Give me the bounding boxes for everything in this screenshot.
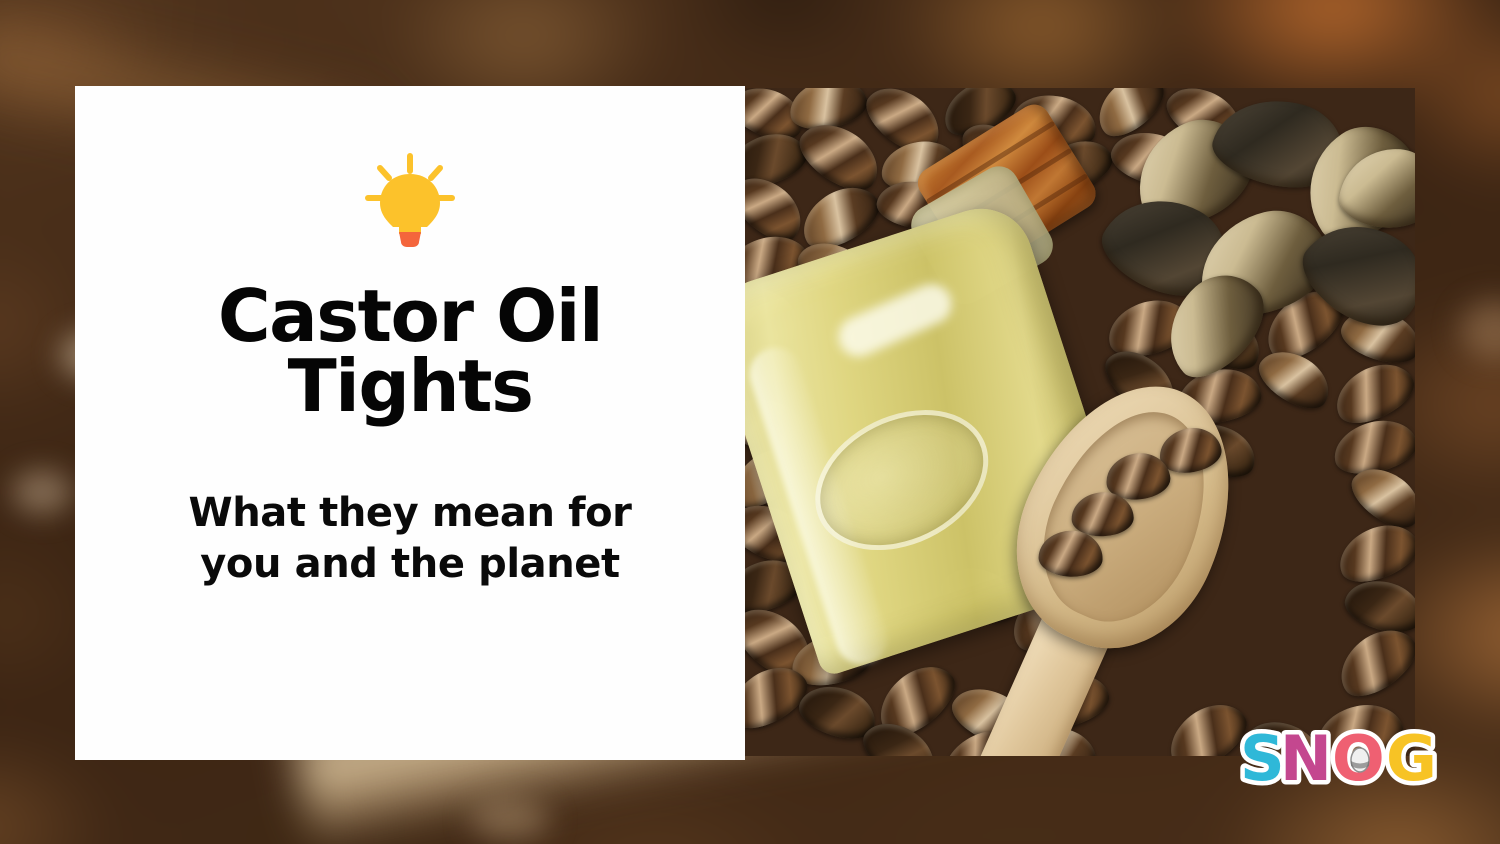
background-speck (470, 800, 550, 840)
text-card: Castor Oil Tights What they mean for you… (75, 86, 745, 760)
logo-letter-n: N (1280, 722, 1332, 794)
subtitle-line-2: you and the planet (200, 541, 620, 587)
page-subtitle: What they mean for you and the planet (130, 488, 690, 590)
background-speck (12, 470, 72, 514)
castor-seed (1340, 572, 1415, 640)
subtitle-line-1: What they mean for (189, 490, 632, 536)
bottle-highlight (832, 278, 958, 363)
logo-letter-g: G (1386, 722, 1437, 794)
poster-canvas: Castor Oil Tights What they mean for you… (0, 0, 1500, 844)
snog-logo[interactable]: S N O G (1238, 722, 1444, 794)
logo-letter-s: S (1240, 722, 1285, 794)
page-title: Castor Oil Tights (110, 282, 710, 422)
castor-oil-photo (745, 88, 1415, 756)
title-line-2: Tights (288, 344, 533, 428)
castor-seed-bed (745, 88, 1415, 756)
lightbulb-icon (358, 148, 462, 252)
